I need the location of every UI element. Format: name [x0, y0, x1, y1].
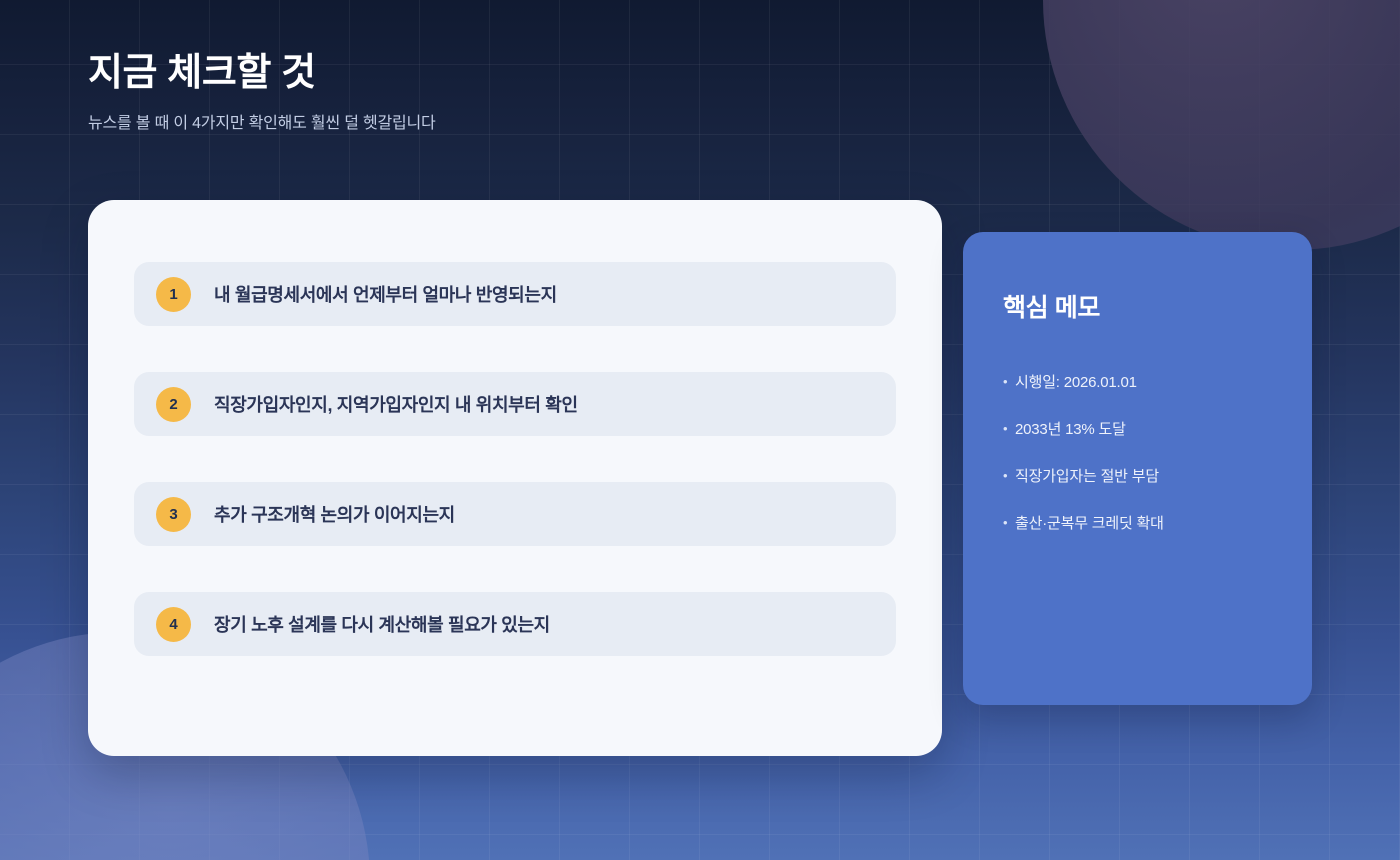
- list-item[interactable]: 1 내 월급명세서에서 언제부터 얼마나 반영되는지: [134, 262, 896, 326]
- checklist-card: 1 내 월급명세서에서 언제부터 얼마나 반영되는지 2 직장가입자인지, 지역…: [88, 200, 942, 756]
- memo-list-item-label: 시행일: 2026.01.01: [1015, 374, 1137, 392]
- item-number-badge: 1: [156, 277, 191, 312]
- list-item[interactable]: 4 장기 노후 설계를 다시 계산해볼 필요가 있는지: [134, 592, 896, 656]
- list-item[interactable]: 3 추가 구조개혁 논의가 이어지는지: [134, 482, 896, 546]
- bullet-icon: •: [1003, 515, 1015, 531]
- item-number-badge: 2: [156, 387, 191, 422]
- page-subtitle: 뉴스를 볼 때 이 4가지만 확인해도 훨씬 덜 헷갈립니다: [88, 109, 436, 133]
- memo-list-item-label: 직장가입자는 절반 부담: [1015, 468, 1159, 486]
- item-number-badge: 4: [156, 607, 191, 642]
- bullet-icon: •: [1003, 421, 1015, 437]
- list-item[interactable]: 2 직장가입자인지, 지역가입자인지 내 위치부터 확인: [134, 372, 896, 436]
- slide-canvas: 지금 체크할 것 뉴스를 볼 때 이 4가지만 확인해도 훨씬 덜 헷갈립니다 …: [0, 0, 1400, 860]
- page-title: 지금 체크할 것: [88, 52, 436, 96]
- bullet-icon: •: [1003, 374, 1015, 390]
- memo-card-title: 핵심 메모: [1003, 288, 1312, 324]
- memo-list-item: • 출산·군복무 크레딧 확대: [1003, 515, 1312, 533]
- list-item-label: 추가 구조개혁 논의가 이어지는지: [214, 501, 455, 527]
- list-item-label: 장기 노후 설계를 다시 계산해볼 필요가 있는지: [214, 611, 550, 637]
- item-number-badge: 3: [156, 497, 191, 532]
- header: 지금 체크할 것 뉴스를 볼 때 이 4가지만 확인해도 훨씬 덜 헷갈립니다: [88, 52, 436, 133]
- key-memo-card: 핵심 메모 • 시행일: 2026.01.01 • 2033년 13% 도달 •…: [963, 232, 1312, 705]
- memo-list-item-label: 출산·군복무 크레딧 확대: [1015, 515, 1164, 533]
- bullet-icon: •: [1003, 468, 1015, 484]
- memo-list-item: • 직장가입자는 절반 부담: [1003, 468, 1312, 486]
- memo-bullet-list: • 시행일: 2026.01.01 • 2033년 13% 도달 • 직장가입자…: [1003, 374, 1312, 533]
- list-item-label: 직장가입자인지, 지역가입자인지 내 위치부터 확인: [214, 391, 578, 417]
- memo-list-item: • 시행일: 2026.01.01: [1003, 374, 1312, 392]
- memo-list-item-label: 2033년 13% 도달: [1015, 421, 1126, 439]
- memo-list-item: • 2033년 13% 도달: [1003, 421, 1312, 439]
- list-item-label: 내 월급명세서에서 언제부터 얼마나 반영되는지: [214, 281, 557, 307]
